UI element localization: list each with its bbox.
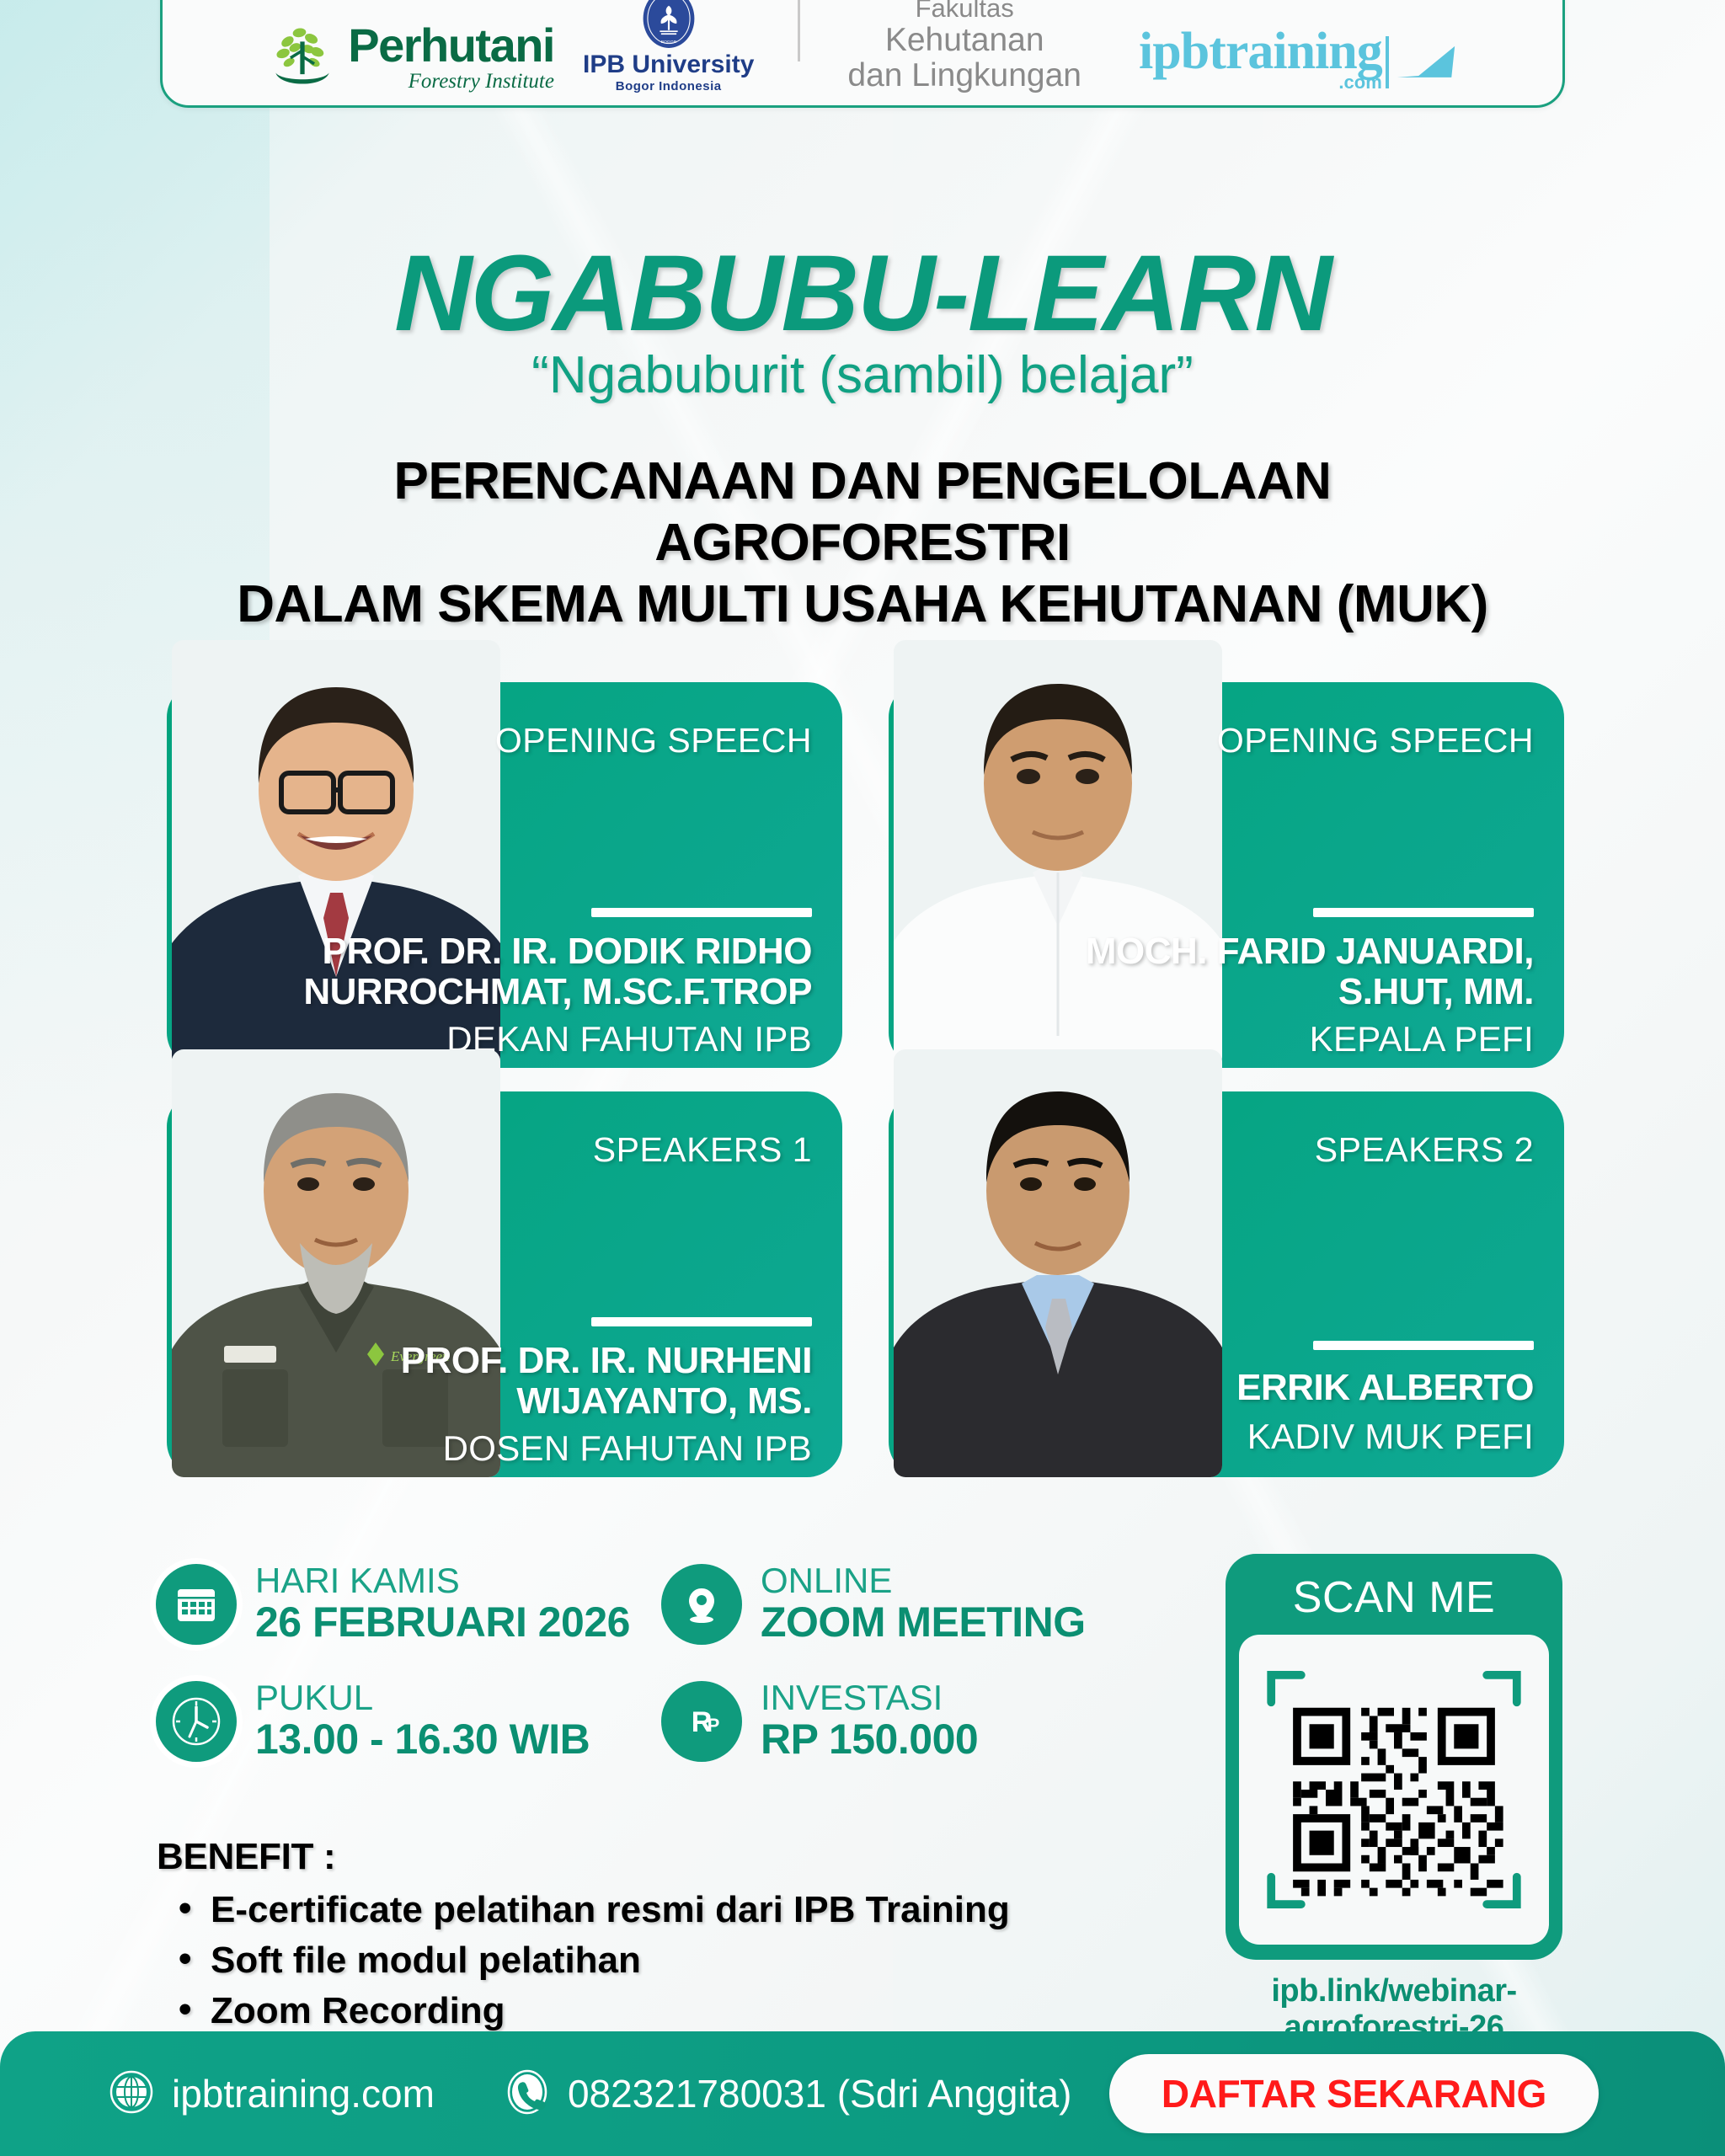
ipbtraining-name: ipbtraining — [1139, 27, 1382, 77]
globe-icon — [108, 2068, 155, 2120]
speaker-role-4: SPEAKERS 2 — [1315, 1130, 1534, 1170]
benefit-item: Soft file modul pelatihan — [157, 1935, 1010, 1986]
speaker-divider-2 — [1313, 908, 1534, 917]
event-time-value: 13.00 - 16.30 WIB — [255, 1716, 590, 1763]
speaker-position-2: KEPALA PEFI — [1310, 1019, 1534, 1059]
perhutani-name: Perhutani — [348, 22, 554, 69]
speaker-card-3: Evergreen SPEAKERS 1 PROF. DR. IR. NURHE… — [167, 1091, 842, 1477]
speaker-position-4: KADIV MUK PEFI — [1247, 1417, 1534, 1457]
speaker-position-1: DEKAN FAHUTAN IPB — [446, 1019, 812, 1059]
footer-bar: ipbtraining.com 082321780031 (Sdri Anggi… — [0, 2031, 1725, 2156]
benefit-list: E-certificate pelatihan resmi dari IPB T… — [157, 1885, 1010, 2036]
ipb-university-location: Bogor Indonesia — [616, 79, 722, 93]
speaker-name-1: PROF. DR. IR. DODIK RIDHO NURROCHMAT, M.… — [303, 931, 812, 1011]
ipb-university-name: IPB University — [583, 52, 754, 77]
footer-website-text: ipbtraining.com — [172, 2071, 435, 2116]
event-place: ONLINE ZOOM MEETING — [661, 1562, 1086, 1646]
footer-website[interactable]: ipbtraining.com — [108, 2068, 435, 2120]
topic-line-2: AGROFORESTRI — [59, 512, 1666, 574]
benefit-item: E-certificate pelatihan resmi dari IPB T… — [157, 1885, 1010, 1935]
topic-line-1: PERENCANAAN DAN PENGELOLAAN — [59, 451, 1666, 512]
event-price-label: INVESTASI — [761, 1679, 978, 1716]
speaker-position-3: DOSEN FAHUTAN IPB — [443, 1428, 812, 1469]
benefit-heading: BENEFIT : — [157, 1836, 1010, 1878]
speaker-divider-3 — [591, 1317, 812, 1326]
location-pin-icon — [661, 1564, 742, 1645]
speaker-portrait-4 — [894, 1049, 1222, 1477]
speaker-role-1: OPENING SPEECH — [495, 721, 812, 760]
rupiah-icon: R P — [661, 1681, 742, 1762]
header-divider — [798, 0, 800, 61]
ipbtraining-logo: ipbtraining .com — [1139, 27, 1460, 93]
speakers-grid: OPENING SPEECH PROF. DR. IR. DODIK RIDHO… — [167, 682, 1565, 1501]
speakers-row-2: Evergreen SPEAKERS 1 PROF. DR. IR. NURHE… — [167, 1091, 1565, 1477]
event-date-label: HARI KAMIS — [255, 1562, 630, 1599]
calendar-icon — [156, 1564, 237, 1645]
qr-section: SCAN ME — [1226, 1554, 1562, 2046]
footer-phone-text: 082321780031 (Sdri Anggita) — [568, 2071, 1071, 2116]
fakultas-line-3: dan Lingkungan — [847, 58, 1081, 93]
event-time-label: PUKUL — [255, 1679, 590, 1716]
page-title: NGABUBU-LEARN — [0, 232, 1725, 355]
event-details-row-2: PUKUL 13.00 - 16.30 WIB R P INVESTASI RP… — [156, 1679, 1167, 1763]
speaker-card-2: OPENING SPEECH MOCH. FARID JANUARDI, S.H… — [889, 682, 1564, 1068]
phone-icon — [504, 2068, 551, 2120]
speakers-row-1: OPENING SPEECH PROF. DR. IR. DODIK RIDHO… — [167, 682, 1565, 1068]
register-now-button[interactable]: DAFTAR SEKARANG — [1109, 2054, 1599, 2133]
fakultas-line-2: Kehutanan — [885, 23, 1044, 58]
page-tagline: “Ngabuburit (sambil) belajar” — [0, 345, 1725, 405]
speaker-name-4: ERRIK ALBERTO — [1236, 1368, 1534, 1408]
speaker-divider-1 — [591, 908, 812, 917]
benefit-item: Zoom Recording — [157, 1986, 1010, 2036]
benefit-section: BENEFIT : E-certificate pelatihan resmi … — [157, 1836, 1010, 2036]
checkmark-icon — [1394, 41, 1460, 90]
ipb-university-logo: INSTITUT PERTANIAN BOGOR IPB University … — [583, 0, 754, 93]
scan-me-label: SCAN ME — [1239, 1567, 1549, 1635]
footer-phone[interactable]: 082321780031 (Sdri Anggita) — [504, 2068, 1071, 2120]
event-details-row-1: HARI KAMIS 26 FEBRUARI 2026 ONLINE ZOOM … — [156, 1562, 1167, 1646]
ipbtraining-domain: .com — [1139, 72, 1382, 93]
qr-card[interactable]: SCAN ME — [1226, 1554, 1562, 1960]
qr-code-image — [1258, 1653, 1530, 1926]
event-time: PUKUL 13.00 - 16.30 WIB — [156, 1679, 661, 1763]
fakultas-line-1: Fakultas — [916, 0, 1014, 23]
perhutani-tree-icon — [265, 19, 339, 93]
event-details: HARI KAMIS 26 FEBRUARI 2026 ONLINE ZOOM … — [156, 1562, 1167, 1796]
speaker-name-2: MOCH. FARID JANUARDI, S.HUT, MM. — [1086, 931, 1534, 1011]
topic-line-3: DALAM SKEMA MULTI USAHA KEHUTANAN (MUK) — [59, 574, 1666, 635]
ipb-seal-icon: INSTITUT PERTANIAN BOGOR — [637, 0, 701, 51]
svg-text:P: P — [708, 1715, 720, 1736]
event-place-label: ONLINE — [761, 1562, 1086, 1599]
speaker-role-3: SPEAKERS 1 — [593, 1130, 812, 1170]
qr-code-box[interactable] — [1239, 1635, 1549, 1945]
event-place-value: ZOOM MEETING — [761, 1599, 1086, 1646]
event-price: R P INVESTASI RP 150.000 — [661, 1679, 978, 1763]
svg-text:BOGOR: BOGOR — [660, 40, 676, 45]
fakultas-kehutanan-label: Fakultas Kehutanan dan Lingkungan — [847, 0, 1081, 93]
speaker-card-4: SPEAKERS 2 ERRIK ALBERTO KADIV MUK PEFI — [889, 1091, 1564, 1477]
speaker-divider-4 — [1313, 1341, 1534, 1350]
speaker-role-2: OPENING SPEECH — [1217, 721, 1534, 760]
event-date-value: 26 FEBRUARI 2026 — [255, 1599, 630, 1646]
speaker-name-3: PROF. DR. IR. NURHENI WIJAYANTO, MS. — [401, 1341, 812, 1421]
topic-heading: PERENCANAAN DAN PENGELOLAAN AGROFORESTRI… — [59, 451, 1666, 635]
perhutani-logo: Perhutani Forestry Institute — [265, 19, 554, 93]
perhutani-subtitle: Forestry Institute — [348, 71, 554, 92]
header-logo-bar: Perhutani Forestry Institute INSTITUT PE… — [160, 0, 1565, 108]
event-date: HARI KAMIS 26 FEBRUARI 2026 — [156, 1562, 661, 1646]
speaker-card-1: OPENING SPEECH PROF. DR. IR. DODIK RIDHO… — [167, 682, 842, 1068]
event-price-value: RP 150.000 — [761, 1716, 978, 1763]
clock-icon — [156, 1681, 237, 1762]
ipbtraining-bar — [1386, 36, 1389, 88]
